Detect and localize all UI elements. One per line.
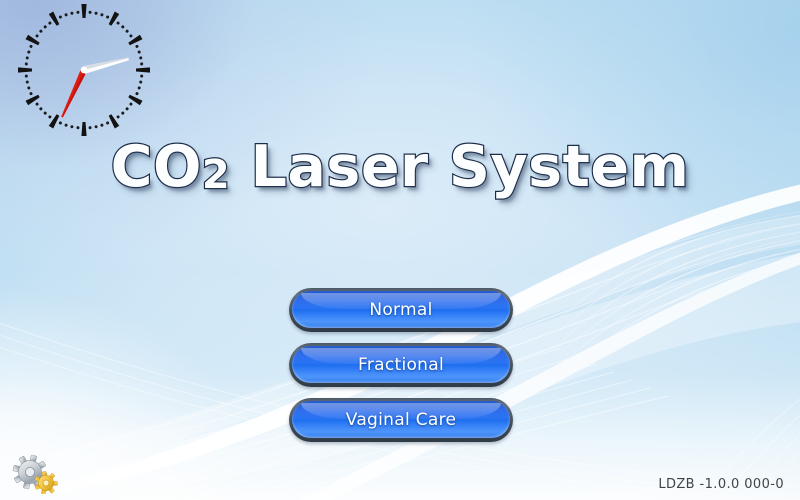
button-face <box>292 346 510 383</box>
clock-minute-hand <box>59 69 87 119</box>
splash-screen: CO2 Laser System Normal Fractional Vagin… <box>0 0 800 500</box>
mode-button-fractional[interactable]: Fractional <box>289 343 513 387</box>
gear-icon[interactable] <box>10 454 64 494</box>
clock-center-cap <box>81 67 88 74</box>
clock-hour-hand <box>83 55 130 74</box>
button-gloss <box>301 403 502 419</box>
button-face <box>292 401 510 438</box>
version-label: LDZB -1.0.0 000-0 <box>658 477 784 492</box>
background-top-right-glow <box>380 0 800 300</box>
button-face <box>292 291 510 328</box>
button-gloss <box>301 348 502 364</box>
button-gloss <box>301 293 502 309</box>
mode-button-vaginal-care[interactable]: Vaginal Care <box>289 398 513 442</box>
analog-clock <box>8 0 160 140</box>
mode-button-group: Normal Fractional Vaginal Care <box>289 288 513 453</box>
mode-button-normal[interactable]: Normal <box>289 288 513 332</box>
